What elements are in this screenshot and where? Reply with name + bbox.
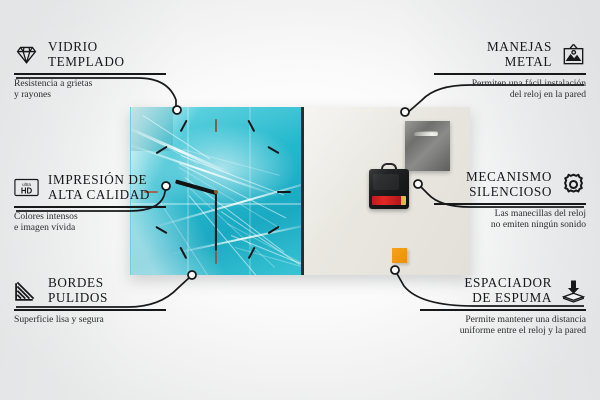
silent-quartz-mechanism [369, 169, 409, 209]
foam-spacer [392, 248, 407, 263]
feature-title-line2: TEMPLADO [48, 55, 125, 70]
feature-desc-line2: uniforme entre el reloj y la pared [420, 325, 586, 336]
hour-marker [215, 119, 217, 132]
hour-marker [267, 146, 279, 154]
feature-title-line2: ALTA CALIDAD [48, 188, 150, 203]
diagonal-stripes-icon [14, 278, 39, 303]
hanging-frame-icon [561, 42, 586, 67]
feature-title-line1: MECANISMO [466, 170, 552, 185]
feature-desc-line2: del reloj en la pared [434, 89, 586, 100]
feature-title-line2: PULIDOS [48, 291, 108, 306]
feature-title-line2: DE ESPUMA [464, 291, 552, 306]
hour-marker [277, 191, 291, 193]
product-image [130, 107, 470, 275]
divider [434, 73, 586, 75]
feature-desc-line1: Las manecillas del reloj [434, 208, 586, 219]
divider [14, 73, 166, 75]
clock-minute-hand [215, 193, 217, 251]
gear-icon [561, 172, 586, 197]
hanger-slot [414, 131, 438, 136]
aa-battery [372, 196, 406, 205]
feature-title-line1: ESPACIADOR [464, 276, 552, 291]
feature-bordes-pulidos[interactable]: BORDES PULIDOS Superficie lisa y segura [14, 276, 166, 325]
infographic-canvas: VIDRIO TEMPLADO Resistencia a grietas y … [0, 0, 600, 400]
feature-desc-line1: Permiten una fácil instalación [434, 78, 586, 89]
divider [420, 309, 586, 311]
metal-hanger-plate [405, 121, 450, 171]
feature-desc-line1: Colores intensos [14, 211, 166, 222]
feature-desc-line2: no emiten ningún sonido [434, 219, 586, 230]
divider [14, 206, 166, 208]
feature-title-line1: MANEJAS [487, 40, 552, 55]
feature-desc-line2: e imagen vívida [14, 222, 166, 233]
feature-impresion-alta-calidad[interactable]: ultra HD IMPRESIÓN DE ALTA CALIDAD Color… [14, 173, 166, 233]
feature-desc-line1: Permite mantener una distancia [420, 314, 586, 325]
feature-vidrio-templado[interactable]: VIDRIO TEMPLADO Resistencia a grietas y … [14, 40, 166, 100]
ultra-hd-icon: ultra HD [14, 175, 39, 200]
hour-marker [215, 251, 217, 264]
feature-title-line2: METAL [487, 55, 552, 70]
feature-mecanismo-silencioso[interactable]: MECANISMO SILENCIOSO Las manecillas del … [434, 170, 586, 230]
arrow-down-onto-layers-icon [561, 278, 586, 303]
diamond-icon [14, 42, 39, 67]
mechanism-hanging-loop [381, 163, 397, 172]
feature-title-line1: IMPRESIÓN DE [48, 173, 150, 188]
mechanism-body [373, 174, 399, 190]
feature-espaciador-espuma[interactable]: ESPACIADOR DE ESPUMA Permite mantener un… [420, 276, 586, 336]
feature-desc-line2: y rayones [14, 89, 166, 100]
feature-title-line1: BORDES [48, 276, 108, 291]
feature-title-line1: VIDRIO [48, 40, 125, 55]
feature-manejas-metal[interactable]: MANEJAS METAL Permiten una fácil instala… [434, 40, 586, 100]
hd-label: HD [21, 187, 33, 196]
feature-desc-line1: Resistencia a grietas [14, 78, 166, 89]
feature-desc-line1: Superficie lisa y segura [14, 314, 166, 325]
divider [14, 309, 166, 311]
clock-center-pin [214, 190, 218, 194]
divider [434, 203, 586, 205]
feature-title-line2: SILENCIOSO [466, 185, 552, 200]
